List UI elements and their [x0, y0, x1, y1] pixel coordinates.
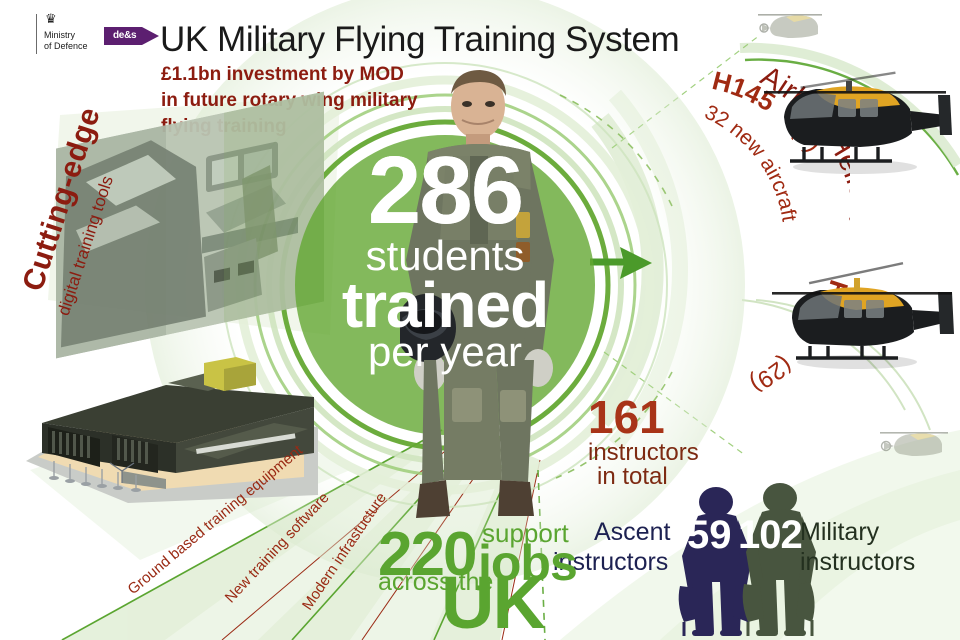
des-logo-text: de&s: [113, 30, 136, 41]
royal-crest-icon: ♛: [36, 13, 98, 25]
jobs-uk-word: UK: [441, 566, 544, 640]
faded-helicopter-bottom-right: [876, 418, 952, 470]
instructors-total-number: 161: [588, 394, 665, 440]
military-instructor-count: 102: [738, 513, 802, 558]
infographic-canvas: ♛ Ministryof Defence de&s UK Military Fl…: [0, 0, 960, 640]
h145-helicopter: [760, 55, 955, 185]
military-label-line2: instructors: [800, 548, 915, 577]
ascent-label-line1: Ascent: [594, 518, 670, 547]
h135-helicopter: [762, 248, 957, 378]
pilot-photo: [400, 60, 585, 520]
ministry-of-defence-logo: ♛ Ministryof Defence: [36, 13, 98, 55]
ascent-instructor-count: 59: [687, 513, 732, 558]
faded-helicopter-top-right: [756, 2, 826, 50]
mod-logo-text: Ministryof Defence: [44, 30, 88, 51]
military-label-line1: Military: [800, 518, 879, 547]
instructors-total-label-2: in total: [597, 464, 668, 490]
page-title: UK Military Flying Training System: [160, 20, 679, 60]
des-logo: de&s: [104, 24, 159, 48]
